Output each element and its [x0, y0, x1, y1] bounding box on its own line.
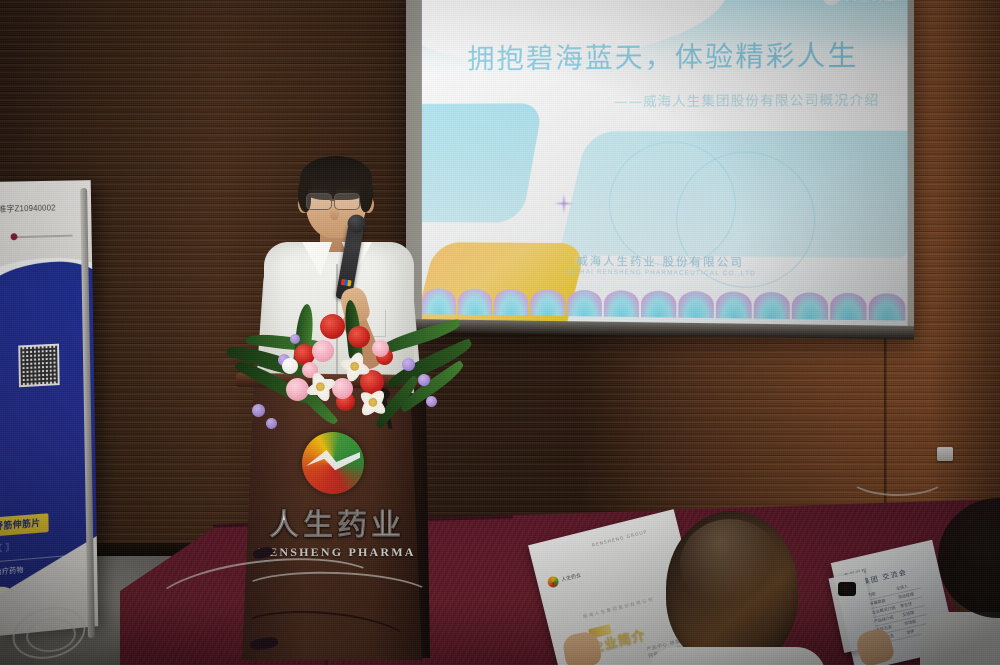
speaker-eyebrow-left: [308, 189, 328, 192]
audience-member-1: RENSHENG GROUP 人生药业 威海人生集团股份有限公司 企业简介 产品…: [540, 505, 800, 665]
podium-brand-en: RENSHENG PHARMA: [252, 545, 422, 560]
slide-footer: 威海人生药业 股份有限公司 WEIHAI RENSHENG PHARMACEUT…: [422, 251, 908, 279]
audience-shoulders: [646, 647, 826, 665]
audience-hair-highlight: [680, 519, 780, 609]
flower-bloom: [418, 374, 430, 386]
flower-bloom-pink: [312, 340, 334, 362]
slide-logo-label: 人生药业: [845, 0, 897, 5]
slide-subtitle: ——威海人生集团股份有限公司概况介绍: [422, 89, 880, 111]
flower-bloom-white: [282, 358, 298, 374]
brochure-logo-icon: [546, 575, 559, 588]
handout-clip: [838, 582, 856, 596]
eyeglasses-lens-left: [306, 193, 332, 210]
slide-sparkle-icon: [549, 188, 580, 219]
speaker-nose: [330, 206, 339, 220]
qr-code-icon: [18, 344, 59, 388]
screen-surface: 人生药业 拥抱碧海蓝天，体验精彩人生 ——威海人生集团股份有限公司概况介绍 威海…: [422, 0, 908, 327]
flower-bloom: [402, 358, 415, 371]
banner-bracket-text: 〖 〗: [0, 542, 14, 555]
podium-branding: 人生药业 RENSHENG PHARMA: [252, 500, 422, 560]
photo-scene: 人生药业 拥抱碧海蓝天，体验精彩人生 ——威海人生集团股份有限公司概况介绍 威海…: [0, 0, 1000, 665]
projection-screen: 人生药业 拥抱碧海蓝天，体验精彩人生 ——威海人生集团股份有限公司概况介绍 威海…: [406, 0, 914, 340]
brochure-subtitle: 威海人生集团股份有限公司: [582, 597, 654, 621]
flower-bloom: [426, 396, 437, 407]
microphone-brand-stripe: [341, 279, 352, 287]
brochure-kicker: RENSHENG GROUP: [592, 530, 648, 549]
wall-power-socket: [937, 447, 953, 461]
audience-shoulders: [920, 612, 1000, 665]
flower-bloom: [266, 418, 277, 429]
slide-shape-cyan-left: [422, 103, 543, 222]
podium-brand-cn: 人生药业: [252, 500, 422, 544]
brochure-logo-label: 人生药业: [561, 572, 582, 584]
banner-approval-code: 药准字Z10940002: [0, 203, 56, 215]
flower-bloom-red: [320, 314, 345, 339]
socket-cable: [848, 458, 947, 496]
flower-bloom: [252, 404, 265, 417]
company-logo-icon: [823, 0, 841, 5]
eyeglasses-bridge: [330, 199, 335, 201]
flower-bloom: [290, 334, 300, 344]
speaker-eyebrow-right: [336, 189, 356, 192]
presentation-slide: 人生药业 拥抱碧海蓝天，体验精彩人生 ——威海人生集团股份有限公司概况介绍 威海…: [422, 0, 908, 327]
flower-arrangement: [226, 300, 466, 450]
slide-title: 拥抱碧海蓝天，体验精彩人生: [422, 33, 908, 77]
